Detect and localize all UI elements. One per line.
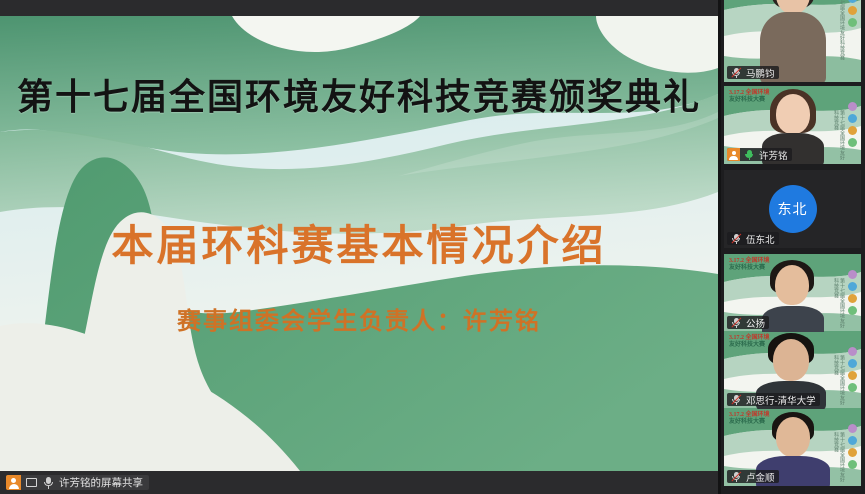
screen-share-label: 许芳铭的屏幕共享: [59, 475, 143, 490]
background-badge-row: [846, 424, 858, 469]
bottom-bar: 许芳铭的屏幕共享: [0, 471, 718, 494]
background-logo-top: 3.17.2 全国环境: [729, 90, 770, 96]
badge-orange-icon: [848, 294, 857, 303]
rail-scrollbar[interactable]: [718, 0, 721, 494]
badge-orange-icon: [848, 448, 857, 457]
badge-green-icon: [848, 138, 857, 147]
participant-rail[interactable]: 3.17.2 全国环境 友好科技大赛 第十七届全国环境友好科技竞赛: [718, 0, 865, 494]
participant-name: 卢金顺: [746, 470, 775, 484]
badge-blue-icon: [848, 436, 857, 445]
badge-orange-icon: [848, 6, 857, 15]
participant-tile[interactable]: 3.17.2 全国环境 友好科技大赛 第十七届全国环境友好科技竞赛: [724, 0, 861, 82]
background-side-text: 第十七届全国环境友好科技竞赛: [838, 0, 845, 60]
badge-purple-icon: [848, 102, 857, 111]
participant-tile[interactable]: 东北 伍东北: [724, 170, 861, 248]
background-side-text: 第十七届全国环境友好科技竞赛: [838, 432, 845, 486]
participant-nameplate: 卢金顺: [727, 470, 779, 483]
background-badge-row: [846, 0, 858, 27]
background-logo-bottom: 友好科技大赛: [729, 419, 765, 425]
badge-blue-icon: [848, 114, 857, 123]
participant-nameplate: 许芳铭: [727, 148, 792, 161]
meeting-window: 录制中 正在讲话: 许芳铭: [0, 0, 865, 494]
participant-name: 伍东北: [746, 232, 775, 246]
background-badge-row: [846, 347, 858, 392]
mic-muted-icon: [731, 394, 742, 406]
badge-orange-icon: [848, 371, 857, 380]
badge-blue-icon: [848, 359, 857, 368]
participant-tile[interactable]: 3.17.2 全国环境 友好科技大赛 第十七届全国环境友好科技竞赛: [724, 254, 861, 332]
badge-blue-icon: [848, 282, 857, 291]
slide-heading: 本届环科赛基本情况介绍: [0, 212, 718, 273]
background-logo-top: 3.17.2 全国环境: [729, 335, 770, 341]
background-logo-bottom: 友好科技大赛: [729, 342, 765, 348]
background-side-text: 第十七届全国环境友好科技竞赛: [838, 278, 845, 332]
participant-name: 邓思行-清华大学: [746, 393, 816, 407]
participant-nameplate: 公扬: [727, 316, 769, 329]
background-logo-bottom: 友好科技大赛: [729, 265, 765, 271]
shared-screen-stage[interactable]: 第十七届全国环境友好科技竞赛颁奖典礼 本届环科赛基本情况介绍 赛事组委会学生负责…: [0, 16, 718, 471]
badge-green-icon: [848, 383, 857, 392]
background-logo: 3.17.2 全国环境 友好科技大赛: [729, 258, 770, 272]
badge-purple-icon: [848, 424, 857, 433]
background-side-text: 第十七届全国环境友好科技竞赛: [838, 110, 845, 164]
badge-green-icon: [848, 18, 857, 27]
participant-name: 许芳铭: [759, 148, 788, 162]
slide-title: 第十七届全国环境友好科技竞赛颁奖典礼: [0, 68, 718, 120]
participant-tile[interactable]: 3.17.2 全国环境 友好科技大赛 第十七届全国环境友好科技竞赛: [724, 86, 861, 164]
background-logo: 3.17.2 全国环境 友好科技大赛: [729, 90, 770, 104]
background-side-text: 第十七届全国环境友好科技竞赛: [838, 355, 845, 409]
participant-tile[interactable]: 3.17.2 全国环境 友好科技大赛 第十七届全国环境友好科技竞赛: [724, 331, 861, 409]
mic-muted-icon: [731, 233, 742, 245]
background-logo-top: 3.17.2 全国环境: [729, 258, 770, 264]
mic-icon: [42, 476, 54, 489]
participant-name: 公扬: [746, 316, 765, 330]
participant-nameplate: 伍东北: [727, 232, 779, 245]
host-badge-icon: [6, 475, 21, 490]
avatar: 东北: [769, 185, 817, 233]
badge-green-icon: [848, 306, 857, 315]
participant-name: 马鹏钧: [746, 66, 775, 80]
background-badge-row: [846, 102, 858, 147]
screen-share-icon: [26, 478, 37, 487]
mic-muted-icon: [731, 67, 742, 79]
background-logo-top: 3.17.2 全国环境: [729, 412, 770, 418]
background-badge-row: [846, 270, 858, 315]
mic-active-icon: [744, 149, 755, 161]
participant-tile[interactable]: 3.17.2 全国环境 友好科技大赛 第十七届全国环境友好科技竞赛: [724, 408, 861, 486]
slide-subtitle: 赛事组委会学生负责人：许芳铭: [0, 301, 718, 336]
mic-muted-icon: [731, 317, 742, 329]
participant-person: [764, 260, 822, 332]
mic-muted-icon: [731, 471, 742, 483]
badge-purple-icon: [848, 270, 857, 279]
background-logo-bottom: 友好科技大赛: [729, 97, 765, 103]
participant-nameplate: 邓思行-清华大学: [727, 393, 820, 406]
screen-share-status[interactable]: 许芳铭的屏幕共享: [6, 475, 149, 490]
badge-purple-icon: [848, 347, 857, 356]
background-logo: 3.17.2 全国环境 友好科技大赛: [729, 335, 770, 349]
background-logo: 3.17.2 全国环境 友好科技大赛: [729, 412, 770, 426]
badge-blue-icon: [848, 0, 857, 3]
participant-nameplate: 马鹏钧: [727, 66, 779, 79]
presentation-slide: 第十七届全国环境友好科技竞赛颁奖典礼 本届环科赛基本情况介绍 赛事组委会学生负责…: [0, 16, 718, 471]
badge-green-icon: [848, 460, 857, 469]
host-badge-icon: [727, 148, 740, 161]
badge-orange-icon: [848, 126, 857, 135]
